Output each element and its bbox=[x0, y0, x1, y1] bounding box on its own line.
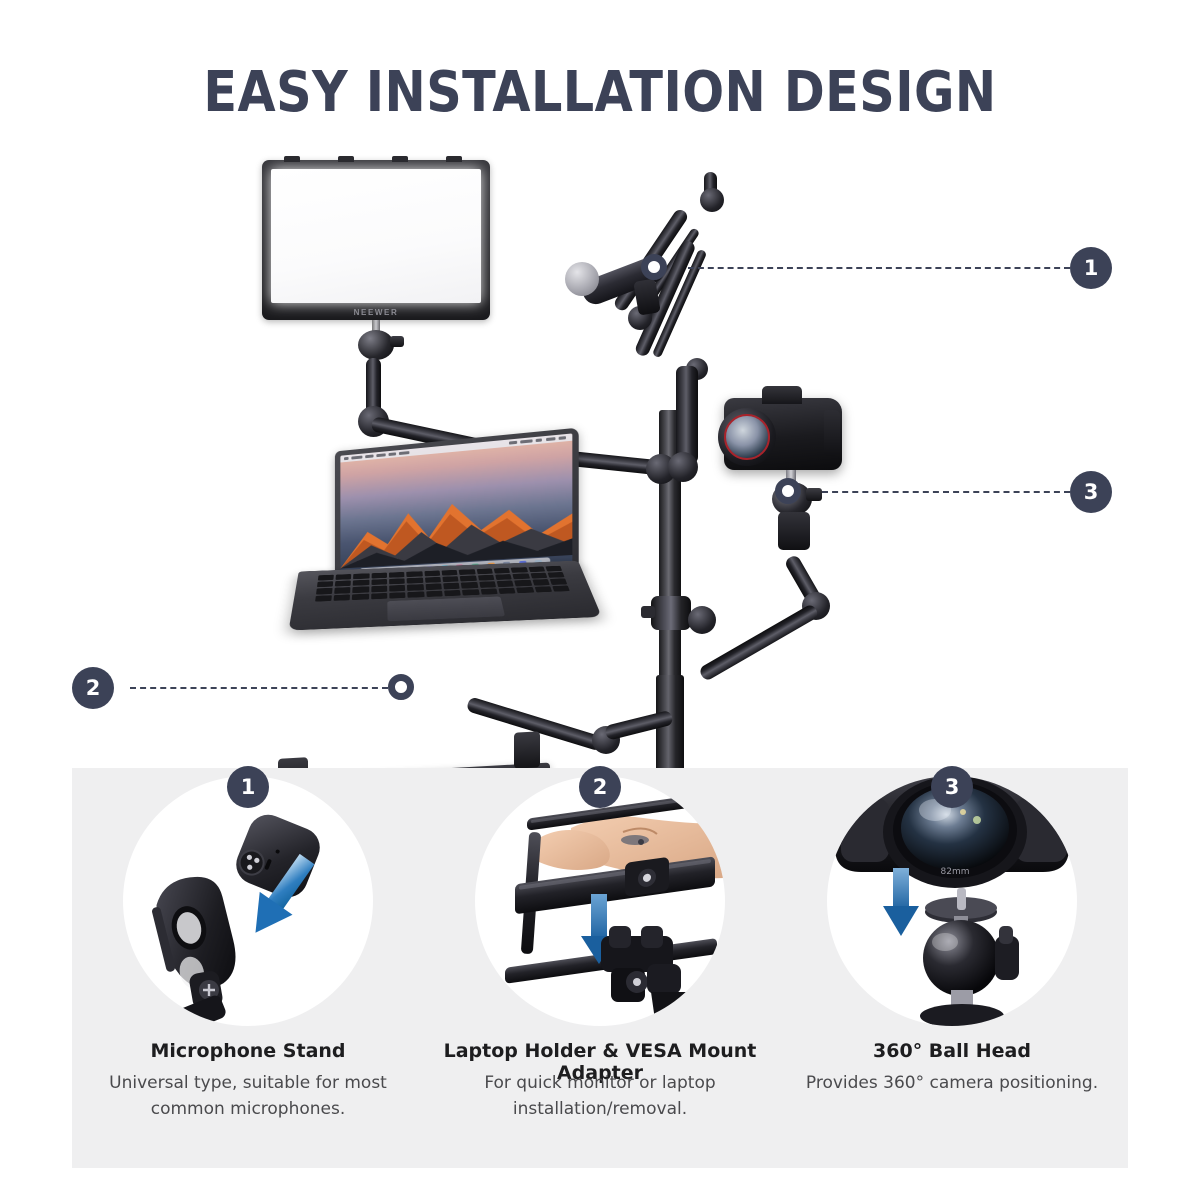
feature-inset-1 bbox=[123, 776, 373, 1026]
led-panel-ball-head bbox=[352, 320, 400, 360]
camera-ballhead-illustration-icon: 82mm bbox=[827, 776, 1077, 1026]
feature-description-1: Universal type, suitable for most common… bbox=[98, 1070, 398, 1122]
page-title: EASY INSTALLATION DESIGN bbox=[72, 60, 1128, 125]
feature-card-2: 2 Laptop Holder & VESA Mount Adapter For… bbox=[424, 768, 776, 1168]
camera-pentaprism bbox=[762, 386, 802, 404]
feature-description-3: Provides 360° camera positioning. bbox=[802, 1070, 1102, 1096]
led-light-surface bbox=[271, 169, 481, 303]
feature-description-2: For quick monitor or laptop installation… bbox=[450, 1070, 750, 1122]
camera-grip bbox=[824, 410, 840, 456]
ball-head-lock-lever bbox=[806, 488, 822, 501]
features-panel: 1 Microphone Stand Universal type, suita… bbox=[72, 768, 1128, 1168]
camera-arm-knuckle bbox=[778, 512, 810, 550]
callout-line-3 bbox=[822, 491, 1070, 493]
callout-line-2 bbox=[130, 687, 388, 689]
boom-joint-top bbox=[700, 188, 724, 212]
feature-inset-2 bbox=[475, 776, 725, 1026]
feature-inset-3: 82mm bbox=[827, 776, 1077, 1026]
callout-badge-3[interactable]: 3 bbox=[1070, 471, 1112, 513]
feature-card-3: 82mm 3 360° Ball H bbox=[776, 768, 1128, 1168]
feature-title-3: 360° Ball Head bbox=[776, 1040, 1128, 1062]
callout-marker-2 bbox=[388, 674, 414, 700]
feature-badge-2[interactable]: 2 bbox=[579, 766, 621, 808]
boom-pole-joint bbox=[668, 452, 698, 482]
tray-front-lip-right bbox=[514, 731, 540, 768]
laptop-trackpad bbox=[387, 597, 505, 621]
led-light-panel: NEEWER bbox=[262, 160, 490, 320]
hero-product-scene: NEEWER bbox=[0, 130, 1200, 770]
feature-badge-3[interactable]: 3 bbox=[931, 766, 973, 808]
feature-title-1: Microphone Stand bbox=[72, 1040, 424, 1062]
feature-card-1: 1 Microphone Stand Universal type, suita… bbox=[72, 768, 424, 1168]
wallpaper-mountains-icon bbox=[340, 486, 572, 568]
callout-marker-1 bbox=[641, 254, 667, 280]
svg-text:82mm: 82mm bbox=[941, 867, 970, 877]
feature-badge-1[interactable]: 1 bbox=[227, 766, 269, 808]
pole-clamp-upper bbox=[651, 596, 691, 630]
camera-arm-pole-joint bbox=[688, 606, 716, 634]
camera-lens-glass-icon bbox=[724, 414, 770, 460]
product-brand-label: NEEWER bbox=[262, 308, 490, 317]
camera-arm-segment-2 bbox=[698, 603, 820, 682]
laptop-screen bbox=[340, 433, 572, 581]
laptop-keyboard-base bbox=[289, 561, 602, 631]
mic-clip-illustration-icon bbox=[123, 776, 373, 1026]
laptop-tray-illustration-icon bbox=[475, 776, 725, 1026]
callout-marker-3 bbox=[775, 478, 801, 504]
laptop-keyboard bbox=[315, 566, 570, 601]
callout-badge-2[interactable]: 2 bbox=[72, 667, 114, 709]
callout-badge-1[interactable]: 1 bbox=[1070, 247, 1112, 289]
callout-line-1 bbox=[688, 267, 1070, 269]
laptop bbox=[300, 440, 580, 680]
boom-mount-post bbox=[676, 366, 698, 464]
clamp-knob-icon bbox=[641, 606, 655, 618]
microphone-grille-icon bbox=[565, 262, 599, 296]
